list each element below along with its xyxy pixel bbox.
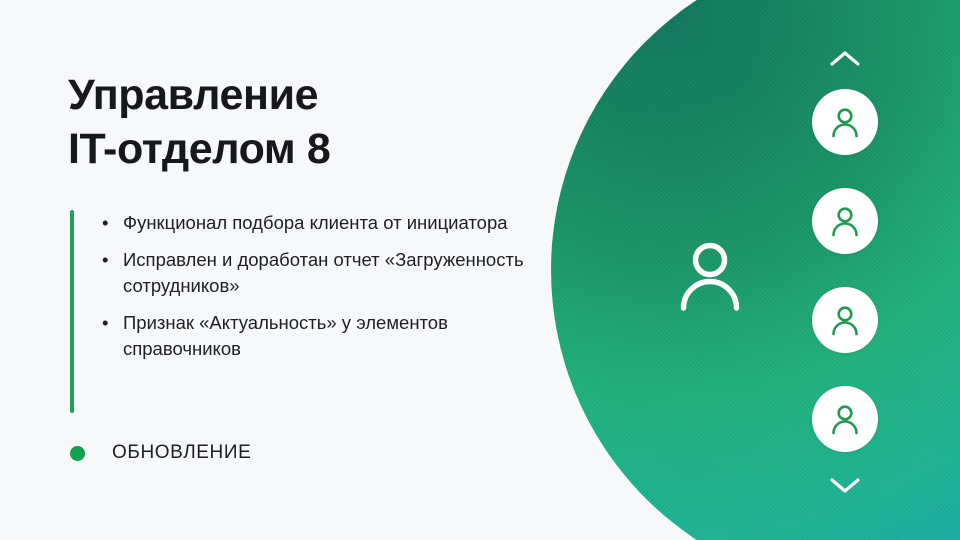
bullet-marker: • bbox=[102, 310, 108, 336]
status-label: ОБНОВЛЕНИЕ bbox=[112, 442, 251, 464]
accent-bar bbox=[70, 210, 74, 413]
list-item: • Исправлен и доработан отчет «Загруженн… bbox=[97, 247, 570, 299]
avatar[interactable] bbox=[812, 188, 878, 254]
avatar[interactable] bbox=[812, 89, 878, 155]
bullet-marker: • bbox=[102, 247, 108, 273]
circle-noise-overlay bbox=[551, 0, 960, 540]
chevron-up-icon[interactable] bbox=[828, 49, 862, 69]
chevron-down-icon[interactable] bbox=[828, 475, 862, 495]
feature-list: • Функционал подбора клиента от инициато… bbox=[97, 210, 570, 361]
avatar-carousel[interactable] bbox=[812, 45, 878, 497]
feature-list-block: • Функционал подбора клиента от инициато… bbox=[70, 210, 570, 361]
gradient-circle-graphic bbox=[551, 0, 960, 540]
list-item-label: Признак «Актуальность» у элементов справ… bbox=[123, 312, 448, 359]
slide-canvas: Управление IT-отделом 8 • Функционал под… bbox=[0, 0, 960, 540]
person-icon bbox=[828, 303, 862, 337]
person-icon bbox=[828, 105, 862, 139]
person-icon bbox=[672, 236, 748, 312]
bullet-marker: • bbox=[102, 210, 108, 236]
list-item-label: Функционал подбора клиента от инициатора bbox=[123, 212, 508, 233]
avatar[interactable] bbox=[812, 287, 878, 353]
list-item-label: Исправлен и доработан отчет «Загруженнос… bbox=[123, 249, 524, 296]
avatar[interactable] bbox=[812, 386, 878, 452]
list-item: • Признак «Актуальность» у элементов спр… bbox=[97, 310, 570, 362]
list-item: • Функционал подбора клиента от инициато… bbox=[97, 210, 570, 236]
page-title: Управление IT-отделом 8 bbox=[68, 68, 538, 176]
status-dot-icon bbox=[70, 446, 85, 461]
status-badge: ОБНОВЛЕНИЕ bbox=[70, 442, 251, 464]
person-icon bbox=[828, 204, 862, 238]
person-icon bbox=[828, 402, 862, 436]
